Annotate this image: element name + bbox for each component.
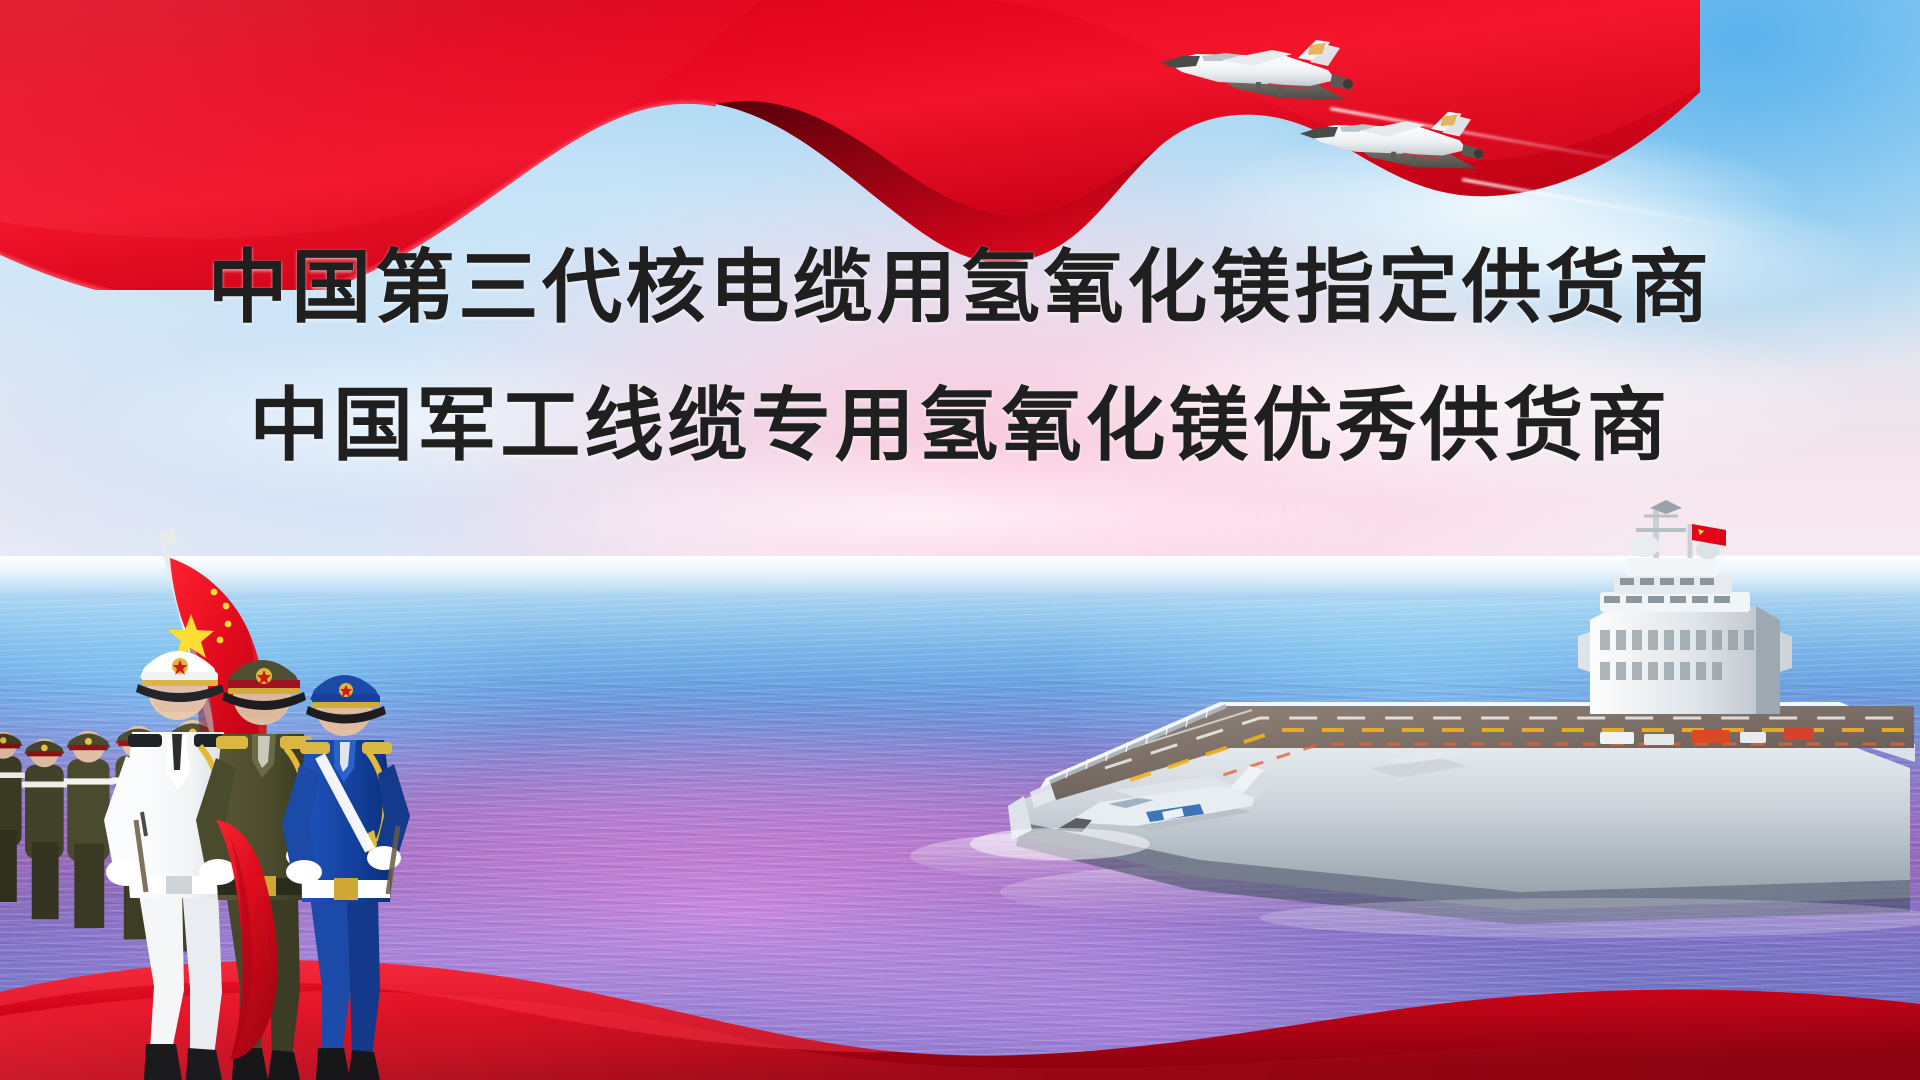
banner-titles: 中国第三代核电缆用氢氧化镁指定供货商 中国军工线缆专用氢氧化镁优秀供货商 xyxy=(0,236,1920,478)
page-title: 中国第三代核电缆用氢氧化镁指定供货商 xyxy=(0,236,1920,340)
fighter-jet-icon xyxy=(1300,108,1490,190)
honor-guard-troops-icon xyxy=(0,520,456,1080)
banner-canvas: 中国第三代核电缆用氢氧化镁指定供货商 中国军工线缆专用氢氧化镁优秀供货商 xyxy=(0,0,1920,1080)
page-subtitle: 中国军工线缆专用氢氧化镁优秀供货商 xyxy=(0,374,1920,478)
